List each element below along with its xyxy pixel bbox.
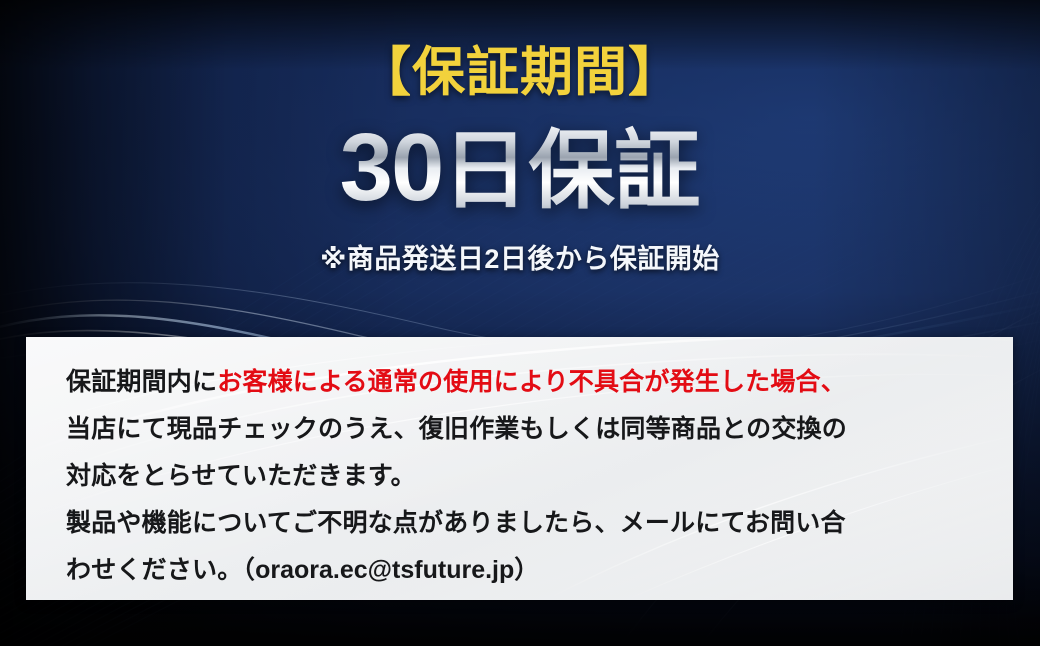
notice-line-1-highlight: お客様による通常の使用により不具合が発生した場合、 — [217, 368, 846, 396]
warranty-period-kicker: 【保証期間】 — [0, 0, 1040, 101]
notice-line-5: わせください。（oraora.ec@tsfuture.jp） — [66, 547, 979, 594]
warranty-days-number: 30 — [340, 114, 443, 221]
notice-line-4: 製品や機能についてご不明な点がありましたら、メールにてお問い合 — [66, 500, 979, 547]
notice-line-3: 対応をとらせていただきます。 — [66, 453, 979, 500]
promo-banner: 【保証期間】 30日保証 ※商品発送日2日後から保証開始 — [0, 0, 1040, 646]
notice-line-1-prefix: 保証期間内に — [66, 368, 217, 396]
notice-line-5-suffix: ） — [514, 556, 539, 584]
warranty-headline-suffix: 日保証 — [442, 123, 700, 219]
notice-line-2: 当店にて現品チェックのうえ、復旧作業もしくは同等商品との交換の — [66, 406, 979, 453]
notice-line-5-prefix: わせください。（ — [66, 556, 255, 584]
warranty-notice-card: 保証期間内にお客様による通常の使用により不具合が発生した場合、 当店にて現品チェ… — [26, 337, 1013, 600]
support-email[interactable]: oraora.ec@tsfuture.jp — [255, 556, 514, 584]
hero-section: 【保証期間】 30日保証 ※商品発送日2日後から保証開始 — [0, 0, 1040, 276]
warranty-headline: 30日保証 — [0, 101, 1040, 221]
notice-line-1: 保証期間内にお客様による通常の使用により不具合が発生した場合、 — [66, 359, 979, 406]
warranty-start-note: ※商品発送日2日後から保証開始 — [0, 221, 1040, 276]
